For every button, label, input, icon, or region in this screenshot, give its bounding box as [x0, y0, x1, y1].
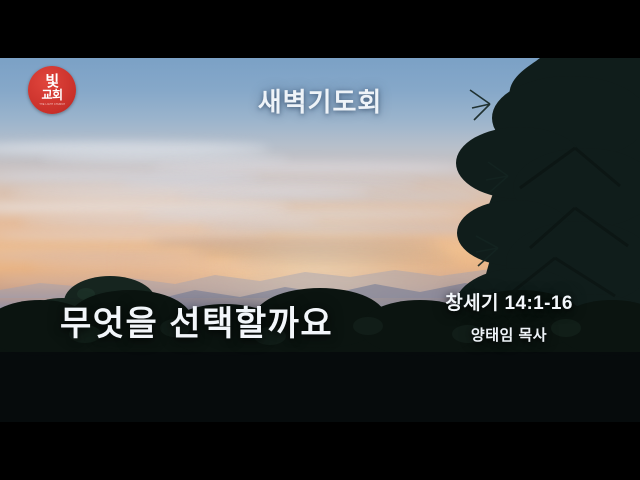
cloud-band [0, 230, 270, 240]
cloud-band [0, 170, 260, 184]
letterbox-bar-bottom [0, 422, 640, 480]
cloud-band [0, 200, 290, 215]
cloud-band [180, 192, 480, 202]
cloud-band [10, 186, 370, 199]
cloud-streak-warm [190, 248, 450, 256]
cloud-streak-warm [0, 276, 280, 284]
scripture-reference: 창세기 14:1-16 [414, 288, 604, 315]
video-thumbnail-frame: 빛 교회 THE LIGHT CHURCH 새벽기도회 무엇을 선택할까요 창세… [0, 0, 640, 480]
cloud-band [140, 208, 470, 220]
sermon-metadata: 창세기 14:1-16 양태임 목사 [414, 288, 604, 345]
cloud-streak-warm [0, 250, 210, 261]
cloud-band [20, 216, 320, 227]
service-title: 새벽기도회 [0, 82, 640, 119]
sermon-main-title: 무엇을 선택할까요 [60, 296, 430, 345]
sun-core-glow [235, 236, 400, 294]
preacher-name: 양태임 목사 [414, 324, 604, 345]
cloud-streak-warm [30, 262, 280, 271]
cloud-streak-warm [230, 258, 460, 265]
cloud-band [150, 162, 470, 174]
cloud-band [200, 222, 500, 235]
cloud-band [120, 178, 420, 189]
cloud-streak-warm [150, 238, 440, 247]
cloud-band [0, 142, 270, 155]
letterbox-bar-top [0, 0, 640, 58]
cloud-streak-warm [250, 270, 490, 278]
cloud-band [40, 154, 290, 164]
